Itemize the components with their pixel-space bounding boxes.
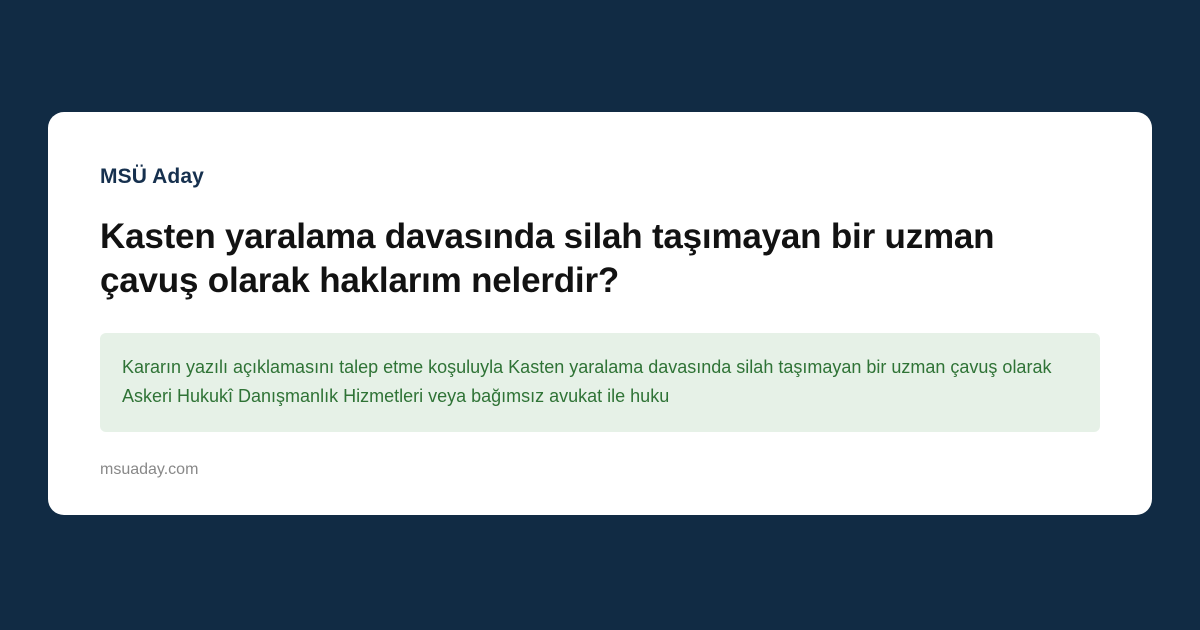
site-name: MSÜ Aday xyxy=(100,164,1100,189)
og-image-canvas: MSÜ Aday Kasten yaralama davasında silah… xyxy=(0,0,1200,630)
answer-snippet-text: Kararın yazılı açıklamasını talep etme k… xyxy=(122,353,1078,410)
preview-card: MSÜ Aday Kasten yaralama davasında silah… xyxy=(48,112,1152,515)
answer-snippet-box: Kararın yazılı açıklamasını talep etme k… xyxy=(100,333,1100,432)
source-domain: msuaday.com xyxy=(100,460,1100,481)
page-title: Kasten yaralama davasında silah taşımaya… xyxy=(100,215,1100,303)
